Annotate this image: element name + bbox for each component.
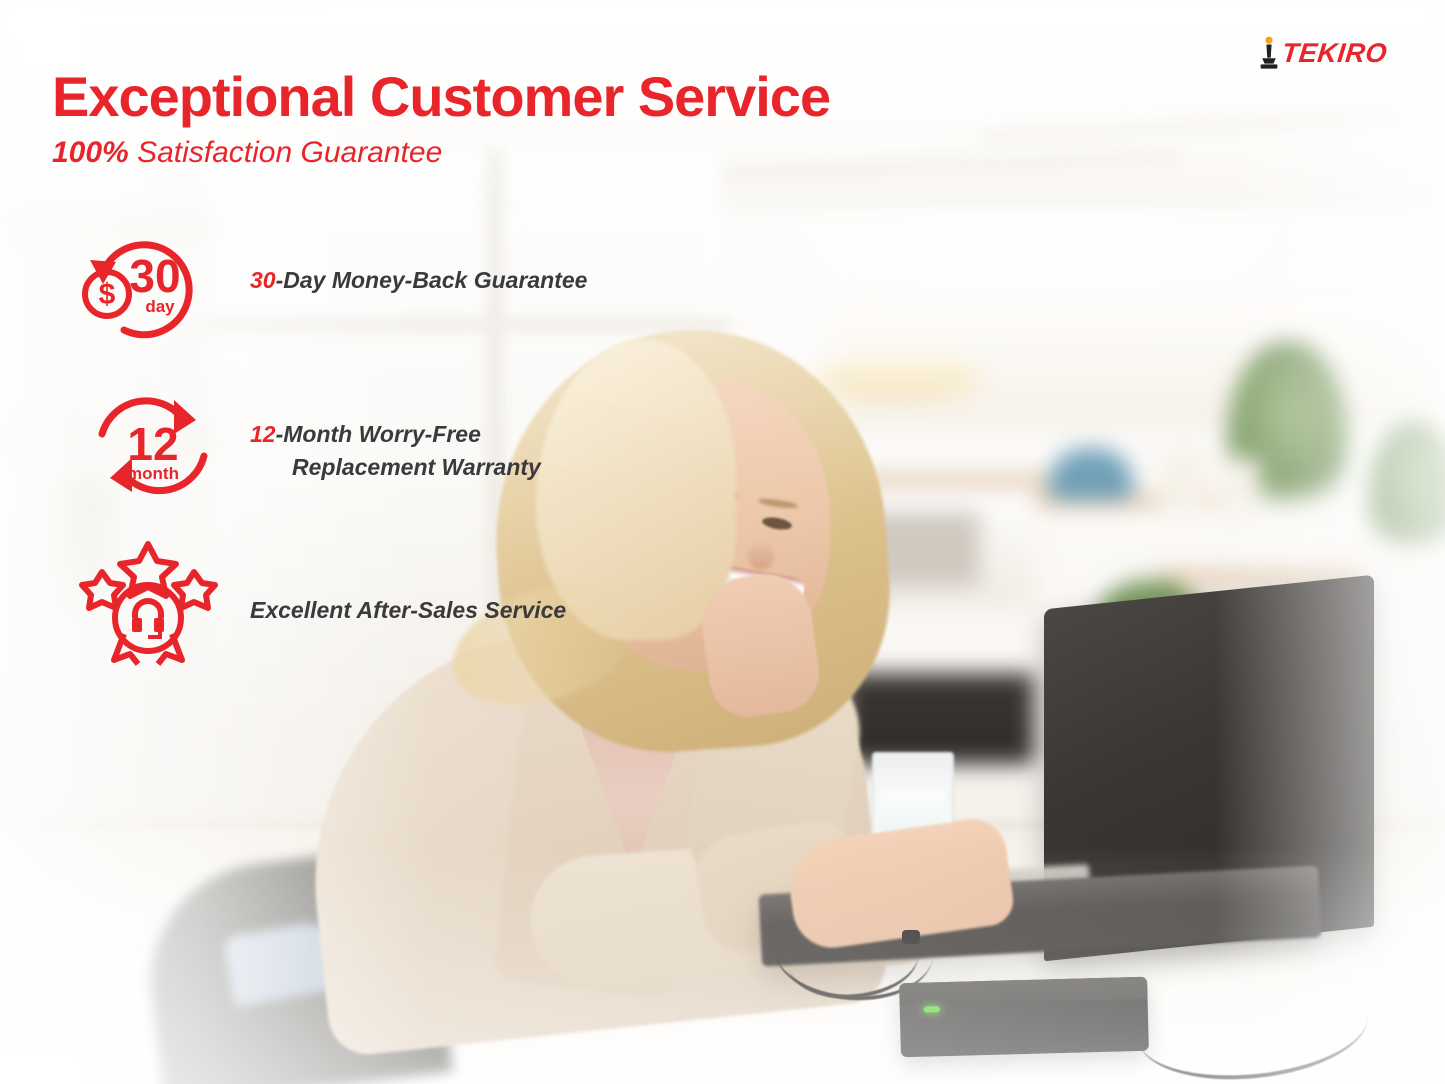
feature-after-sales: [78, 536, 228, 666]
feature-money-back-label: 30-Day Money-Back Guarantee: [250, 264, 587, 297]
icon-unit: day: [145, 297, 175, 316]
icon-unit: month: [127, 464, 179, 483]
feature-warranty-label: 12-Month Worry-Free Replacement Warranty: [250, 418, 541, 485]
adapter-led-indicator: [924, 1006, 940, 1012]
feature-highlight: 30: [250, 267, 276, 293]
tekiro-anvil-icon: [1258, 36, 1280, 70]
blue-pot: [1048, 448, 1134, 500]
icon-dollar-symbol: $: [99, 278, 116, 311]
subtitle-text: Satisfaction Guarantee: [129, 136, 443, 169]
feature-text: Excellent After-Sales Service: [250, 597, 566, 623]
feature-text: -Day Money-Back Guarantee: [276, 267, 588, 293]
after-sales-award-icon: [78, 536, 228, 666]
thirty-day-money-back-icon: $ 30 day: [72, 222, 222, 352]
page-title: Exceptional Customer Service: [52, 68, 830, 127]
feature-text-line2: Replacement Warranty: [250, 451, 541, 484]
page-subtitle: 100% Satisfaction Guarantee: [52, 136, 442, 170]
headset-symbol: [132, 598, 164, 639]
feature-after-sales-label: Excellent After-Sales Service: [250, 594, 566, 627]
jar: [1222, 458, 1260, 512]
icon-number: 12: [127, 418, 178, 470]
jar: [1160, 450, 1206, 512]
hanging-plant: [1370, 420, 1445, 570]
dc-plug: [902, 930, 920, 944]
nose: [748, 540, 774, 570]
promo-banner: TEKIRO Exceptional Customer Service 100%…: [0, 0, 1445, 1084]
feature-warranty: 12 month: [80, 382, 230, 512]
feature-text: -Month Worry-Free: [276, 421, 481, 447]
subtitle-percent: 100%: [52, 136, 129, 169]
twelve-month-warranty-icon: 12 month: [80, 382, 230, 512]
brand-name: TEKIRO: [1280, 38, 1388, 69]
icon-number: 30: [129, 250, 180, 302]
feature-highlight: 12: [250, 421, 276, 447]
feature-money-back: $ 30 day: [72, 222, 222, 352]
brand-logo[interactable]: TEKIRO: [1258, 36, 1387, 70]
laptop-power-adapter: [899, 977, 1149, 1057]
